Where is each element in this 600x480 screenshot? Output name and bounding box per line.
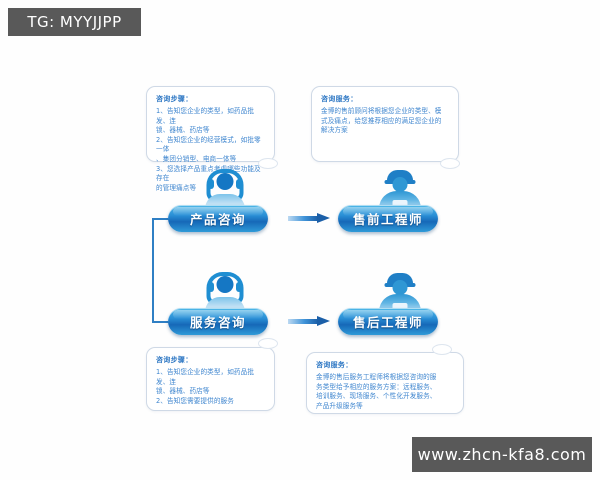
callout-top-left: 咨询步骤： 1、告知您企业的类型，如药品批发、连 锁、器械、药店等 2、告知您企… bbox=[146, 86, 275, 162]
node-presales-engineer[interactable]: 售前工程师 bbox=[338, 205, 438, 232]
callout-top-right: 咨询服务： 金博的售前顾问将根据您企业的类型、模 式及痛点，给您推荐相应的满足您… bbox=[311, 86, 459, 162]
node-product-consultation[interactable]: 产品咨询 bbox=[168, 205, 268, 232]
callout-line: 产品升级服务等 bbox=[316, 402, 455, 412]
arrow-right-icon bbox=[288, 316, 330, 327]
callout-bottom-left: 咨询步骤： 1、告知您企业的类型，如药品批发、连 锁、器械、药店等 2、告知您需… bbox=[146, 347, 275, 411]
headset-earcup-left-icon bbox=[208, 179, 214, 189]
callout-bottom-right: 咨询服务： 金博的售后服务工程师将根据您咨询的服 务类型给予相应的服务方案：远程… bbox=[306, 352, 464, 414]
arrow-right-icon bbox=[288, 213, 330, 224]
callout-line: 锁、器械、药店等 bbox=[156, 126, 266, 136]
diagram-canvas: TG: MYYJJPP 咨询步骤： 1、告知您企业的类型，如药品批发、连 锁、器… bbox=[0, 0, 600, 480]
callout-line: 1、告知您企业的类型，如药品批发、连 bbox=[156, 107, 266, 126]
speech-bubble-tail-icon bbox=[258, 158, 278, 169]
headset-earcup-right-icon bbox=[236, 179, 242, 189]
operator-head-icon bbox=[217, 173, 234, 190]
callout-line: 、集团分销型、电商一体等 bbox=[156, 155, 266, 165]
headset-earcup-right-icon bbox=[236, 282, 242, 292]
arrow-head bbox=[317, 316, 330, 326]
site-watermark-badge: www.zhcn-kfa8.com bbox=[412, 437, 592, 472]
node-service-consultation[interactable]: 服务咨询 bbox=[168, 308, 268, 335]
callout-line: 2、告知您企业的经营模式，如批零一体 bbox=[156, 136, 266, 155]
callout-line: 式及痛点，给您推荐相应的满足您企业的 bbox=[321, 117, 450, 127]
callout-title: 咨询步骤： bbox=[156, 355, 266, 366]
callout-title: 咨询服务： bbox=[321, 94, 450, 105]
callout-line: 务类型给予相应的服务方案：远程服务、 bbox=[316, 383, 455, 393]
telegram-watermark-badge: TG: MYYJJPP bbox=[8, 8, 141, 36]
callout-line: 锁、器械、药店等 bbox=[156, 387, 266, 397]
callout-title: 咨询步骤： bbox=[156, 94, 266, 105]
callout-line: 金博的售后服务工程师将根据您咨询的服 bbox=[316, 373, 455, 383]
arrow-shaft bbox=[288, 216, 318, 221]
speech-bubble-tail-icon bbox=[432, 344, 452, 355]
arrow-head bbox=[317, 213, 330, 223]
node-aftersales-engineer[interactable]: 售后工程师 bbox=[338, 308, 438, 335]
callout-line: 金博的售前顾问将根据您企业的类型、模 bbox=[321, 107, 450, 117]
bracket-vertical-line bbox=[152, 218, 154, 322]
callout-line: 1、告知您企业的类型，如药品批发、连 bbox=[156, 368, 266, 387]
callout-line: 解决方案 bbox=[321, 126, 450, 136]
headset-earcup-left-icon bbox=[208, 282, 214, 292]
bracket-branch-line-top bbox=[152, 218, 169, 220]
engineer-head-icon bbox=[393, 280, 408, 295]
arrow-shaft bbox=[288, 319, 318, 324]
speech-bubble-tail-icon bbox=[258, 338, 278, 349]
callout-line: 2、告知您需要提供的服务 bbox=[156, 397, 266, 407]
engineer-head-icon bbox=[393, 177, 408, 192]
speech-bubble-tail-icon bbox=[440, 158, 460, 169]
operator-head-icon bbox=[217, 276, 234, 293]
callout-line: 培训服务、现场服务、个性化开发服务、 bbox=[316, 392, 455, 402]
callout-title: 咨询服务： bbox=[316, 360, 455, 371]
bracket-branch-line-bottom bbox=[152, 321, 169, 323]
